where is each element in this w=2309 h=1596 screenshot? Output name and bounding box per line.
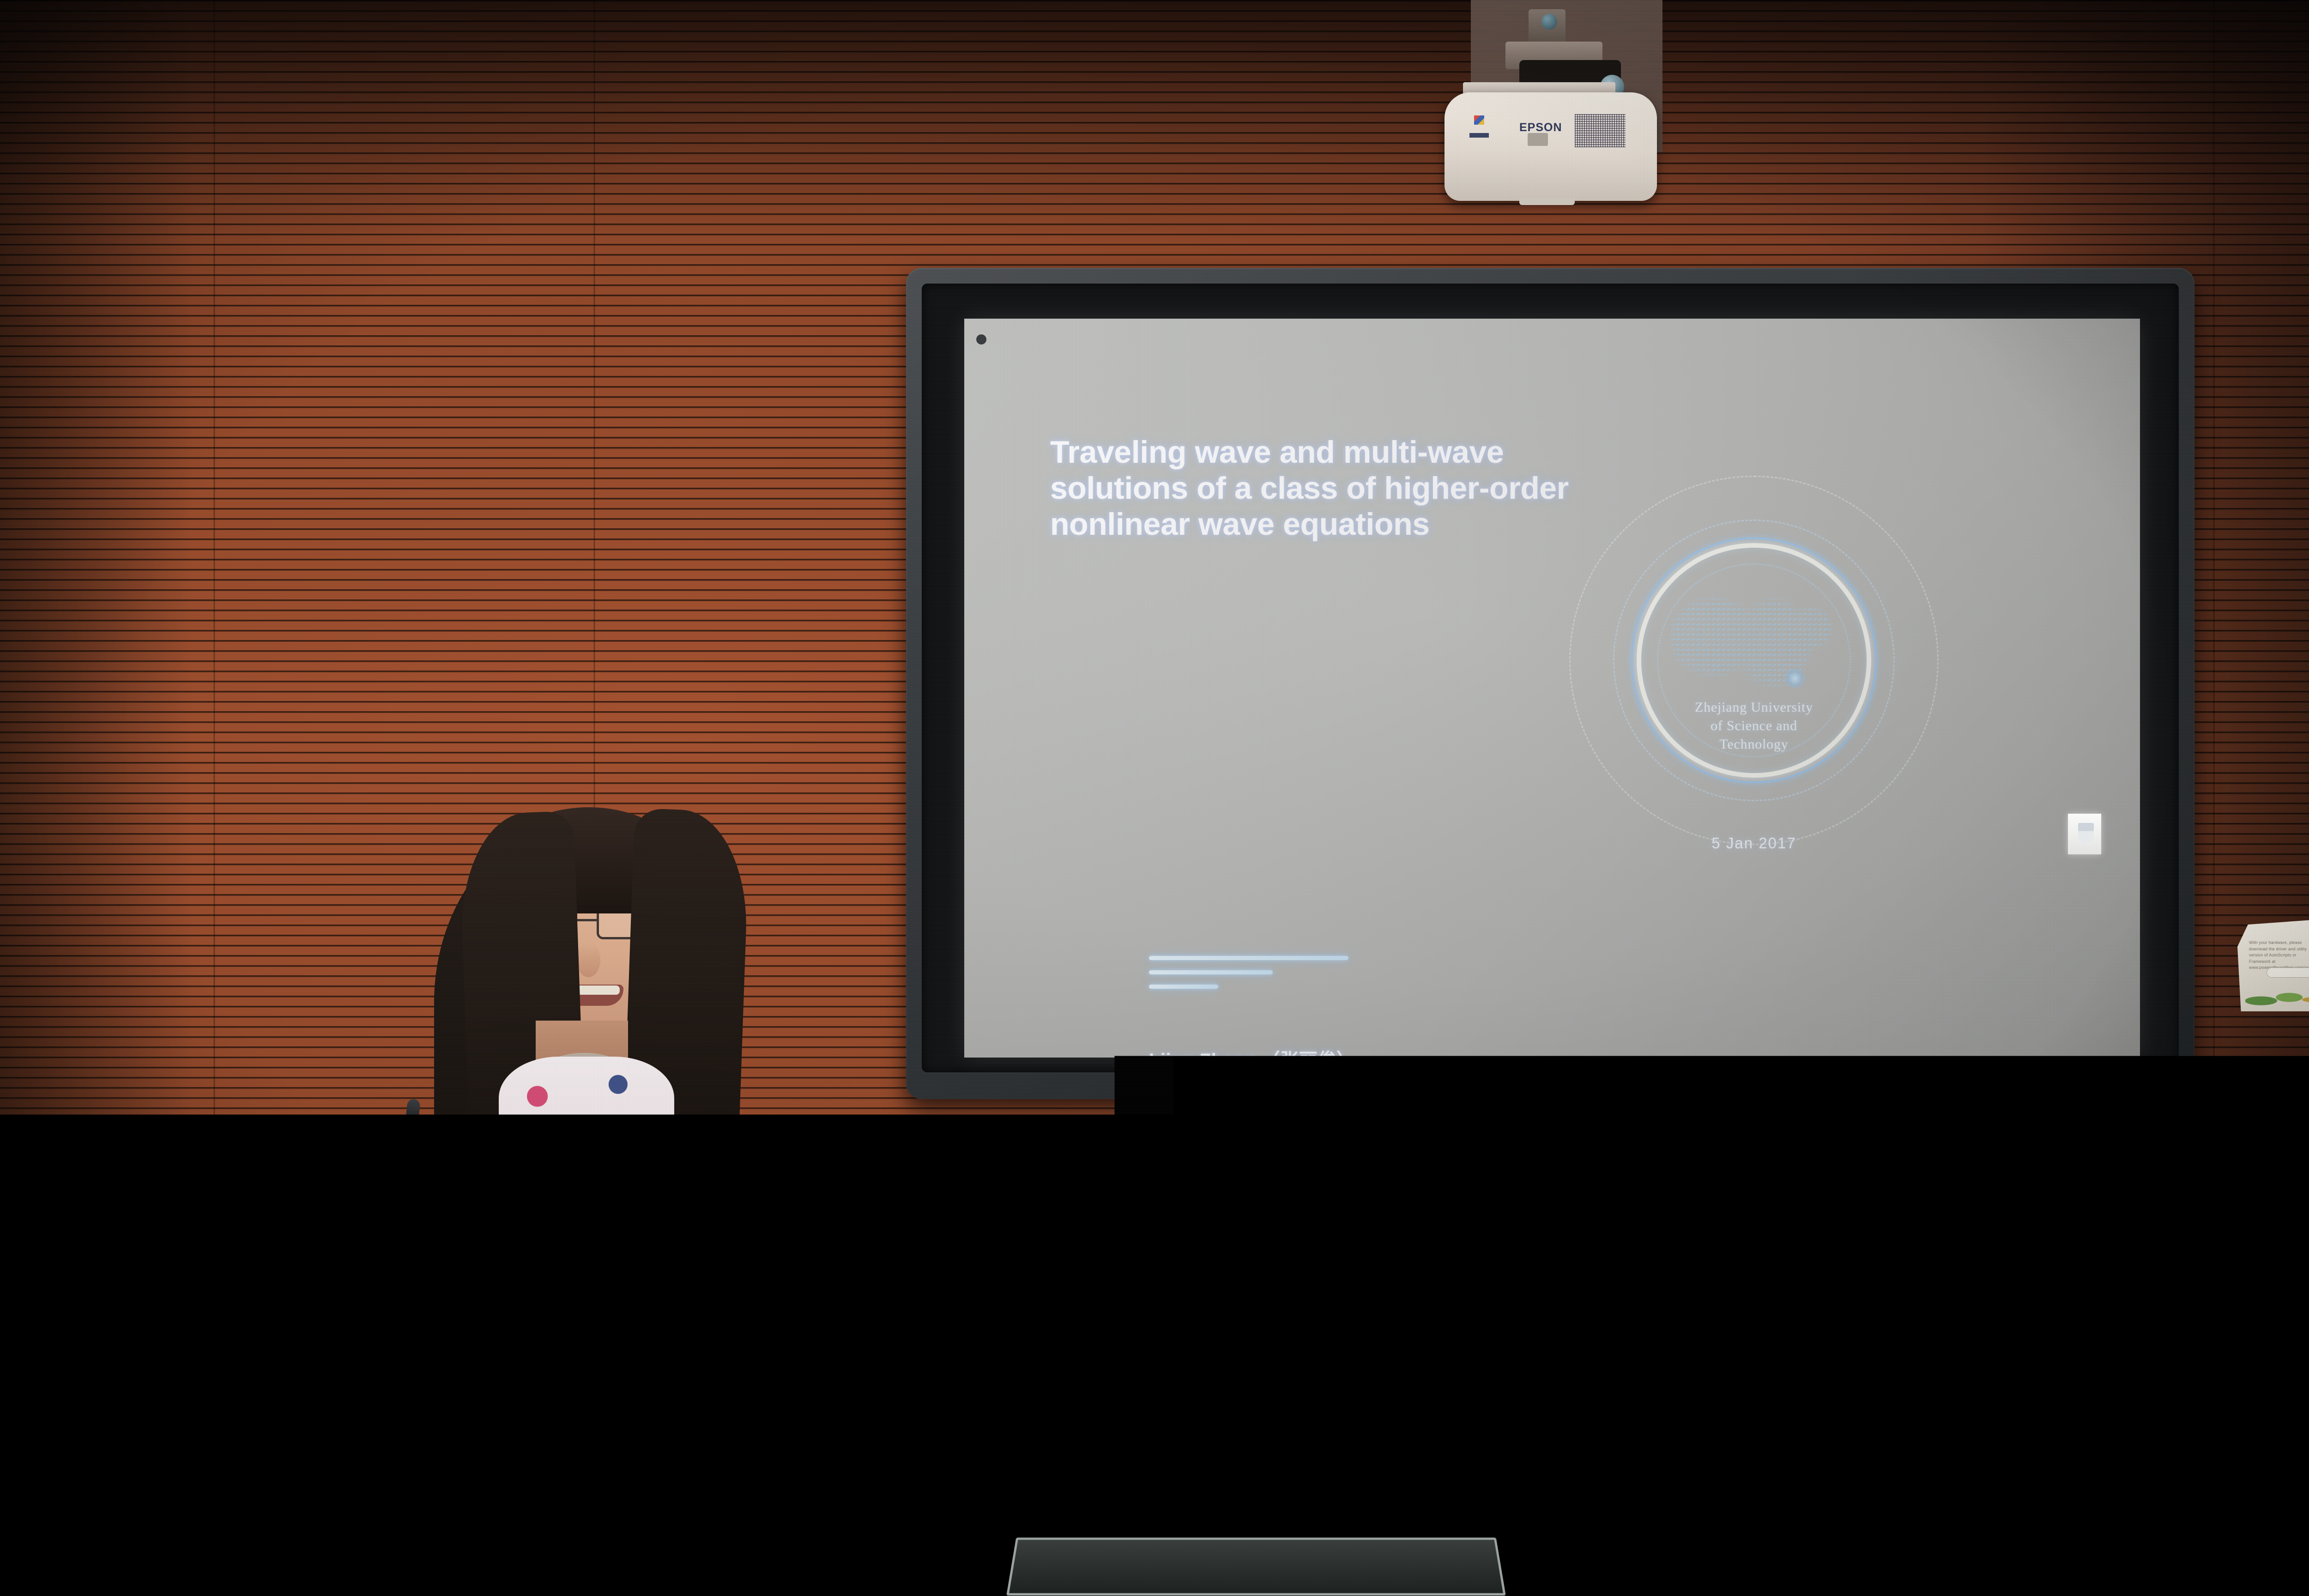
- projector-brand-label: EPSON: [1519, 121, 1562, 134]
- slide-date: 5 Jan 2017: [1711, 834, 1796, 852]
- university-emblem-icon: Zhejiang University of Science and Techn…: [1565, 471, 1943, 850]
- decorative-rule-1: [1149, 956, 1348, 960]
- right-desk-top: [2152, 1435, 2309, 1454]
- emblem-university-name: Zhejiang University of Science and Techn…: [1634, 698, 1874, 754]
- projector-foot: [1519, 198, 1575, 205]
- hands: [536, 1302, 642, 1372]
- projector-ir-receiver-icon: [1528, 133, 1548, 146]
- slide-decorative-rules: [1149, 956, 1348, 999]
- white-box-on-desk[interactable]: [706, 1555, 766, 1589]
- projector-vent-grille: [1575, 114, 1626, 147]
- wall-socket-panel[interactable]: [1121, 1255, 1160, 1284]
- presenter: [383, 804, 845, 1596]
- emblem-name-line-2: of Science and: [1634, 717, 1874, 735]
- projected-slide[interactable]: Traveling wave and multi-wave solutions …: [964, 319, 2140, 1058]
- mic-capsule-icon: [1021, 1167, 1035, 1194]
- small-object-on-desk: [1122, 1412, 1191, 1433]
- projector-color-logo-icon: [1474, 115, 1484, 125]
- emblem-name-line-1: Zhejiang University: [1634, 698, 1874, 717]
- whiteboard-calibration-dot-icon: [976, 334, 986, 345]
- slide-title: Traveling wave and multi-wave solutions …: [1050, 434, 1627, 543]
- projector-badge: [1469, 133, 1489, 138]
- podium-glass-panel: [1006, 1538, 1506, 1596]
- slide-author-name: Lijun Zhang （张丽俊）: [1149, 1045, 1355, 1058]
- emblem-world-map-icon: [1671, 592, 1837, 698]
- wall-note-text: With your hardware, please download the …: [2249, 940, 2309, 971]
- decorative-rule-2: [1149, 970, 1273, 974]
- projector-mount-bolt-icon: [1541, 14, 1557, 30]
- nose: [576, 942, 600, 977]
- wall-shadow-top: [0, 0, 2309, 240]
- emblem-name-line-3: Technology: [1634, 735, 1874, 754]
- wall-note-leaf-graphic-icon: [2245, 984, 2309, 1012]
- lecture-hall-scene: EPSON ActivBoard Traveling wave and mult…: [0, 0, 2309, 1596]
- wall-note-key-field: [2267, 967, 2309, 978]
- switch-glyph-icon: [2078, 823, 2094, 843]
- whiteboard-brand-label: ActivBoard: [2092, 1080, 2140, 1092]
- mic-capsule-icon: [959, 1168, 974, 1195]
- emblem-glow-dot-icon: [1784, 668, 1806, 689]
- right-desk-front: [2152, 1452, 2309, 1596]
- decorative-rule-3: [1149, 985, 1218, 989]
- plastic-bag-print-icon: [1255, 1408, 1348, 1453]
- glasses-bridge: [577, 919, 598, 921]
